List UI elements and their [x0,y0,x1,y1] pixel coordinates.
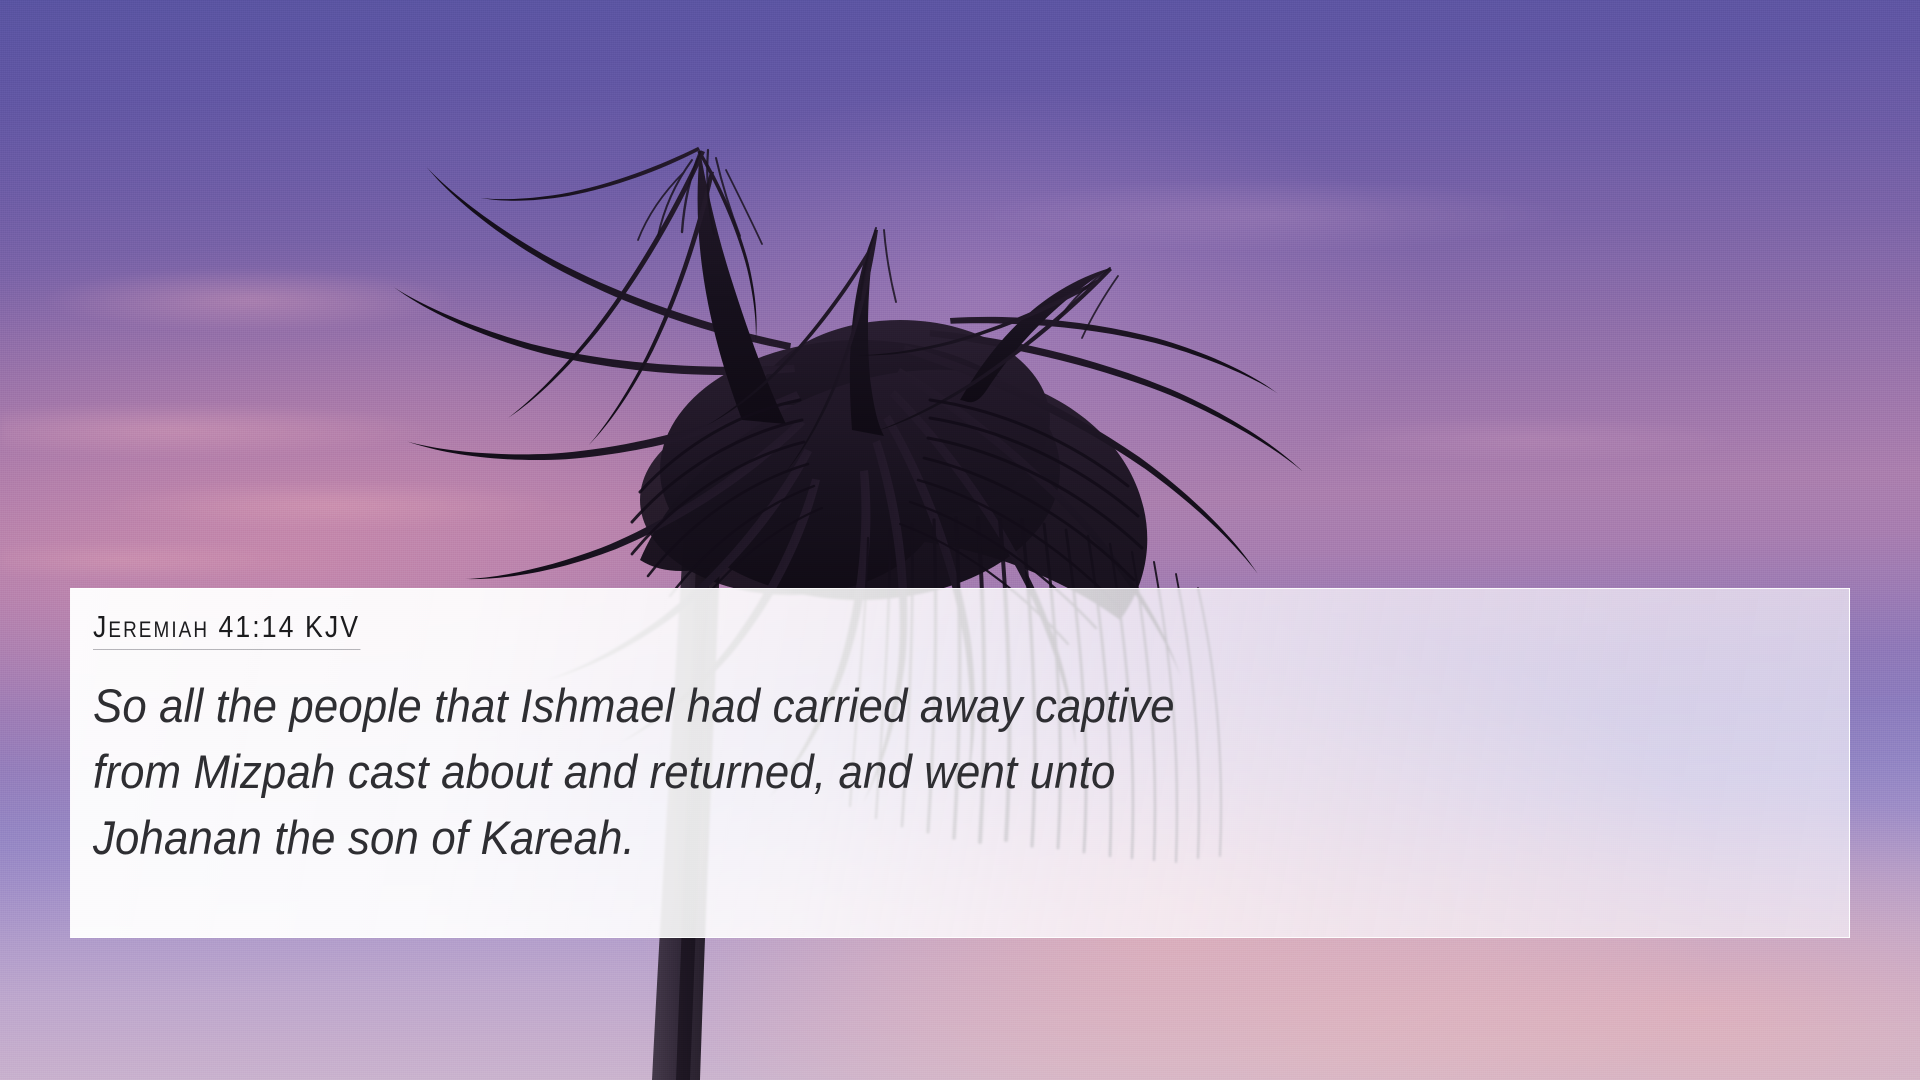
film-grain-overlay [0,0,1920,1080]
wallpaper-canvas: Jeremiah 41:14 KJV So all the people tha… [0,0,1920,1080]
